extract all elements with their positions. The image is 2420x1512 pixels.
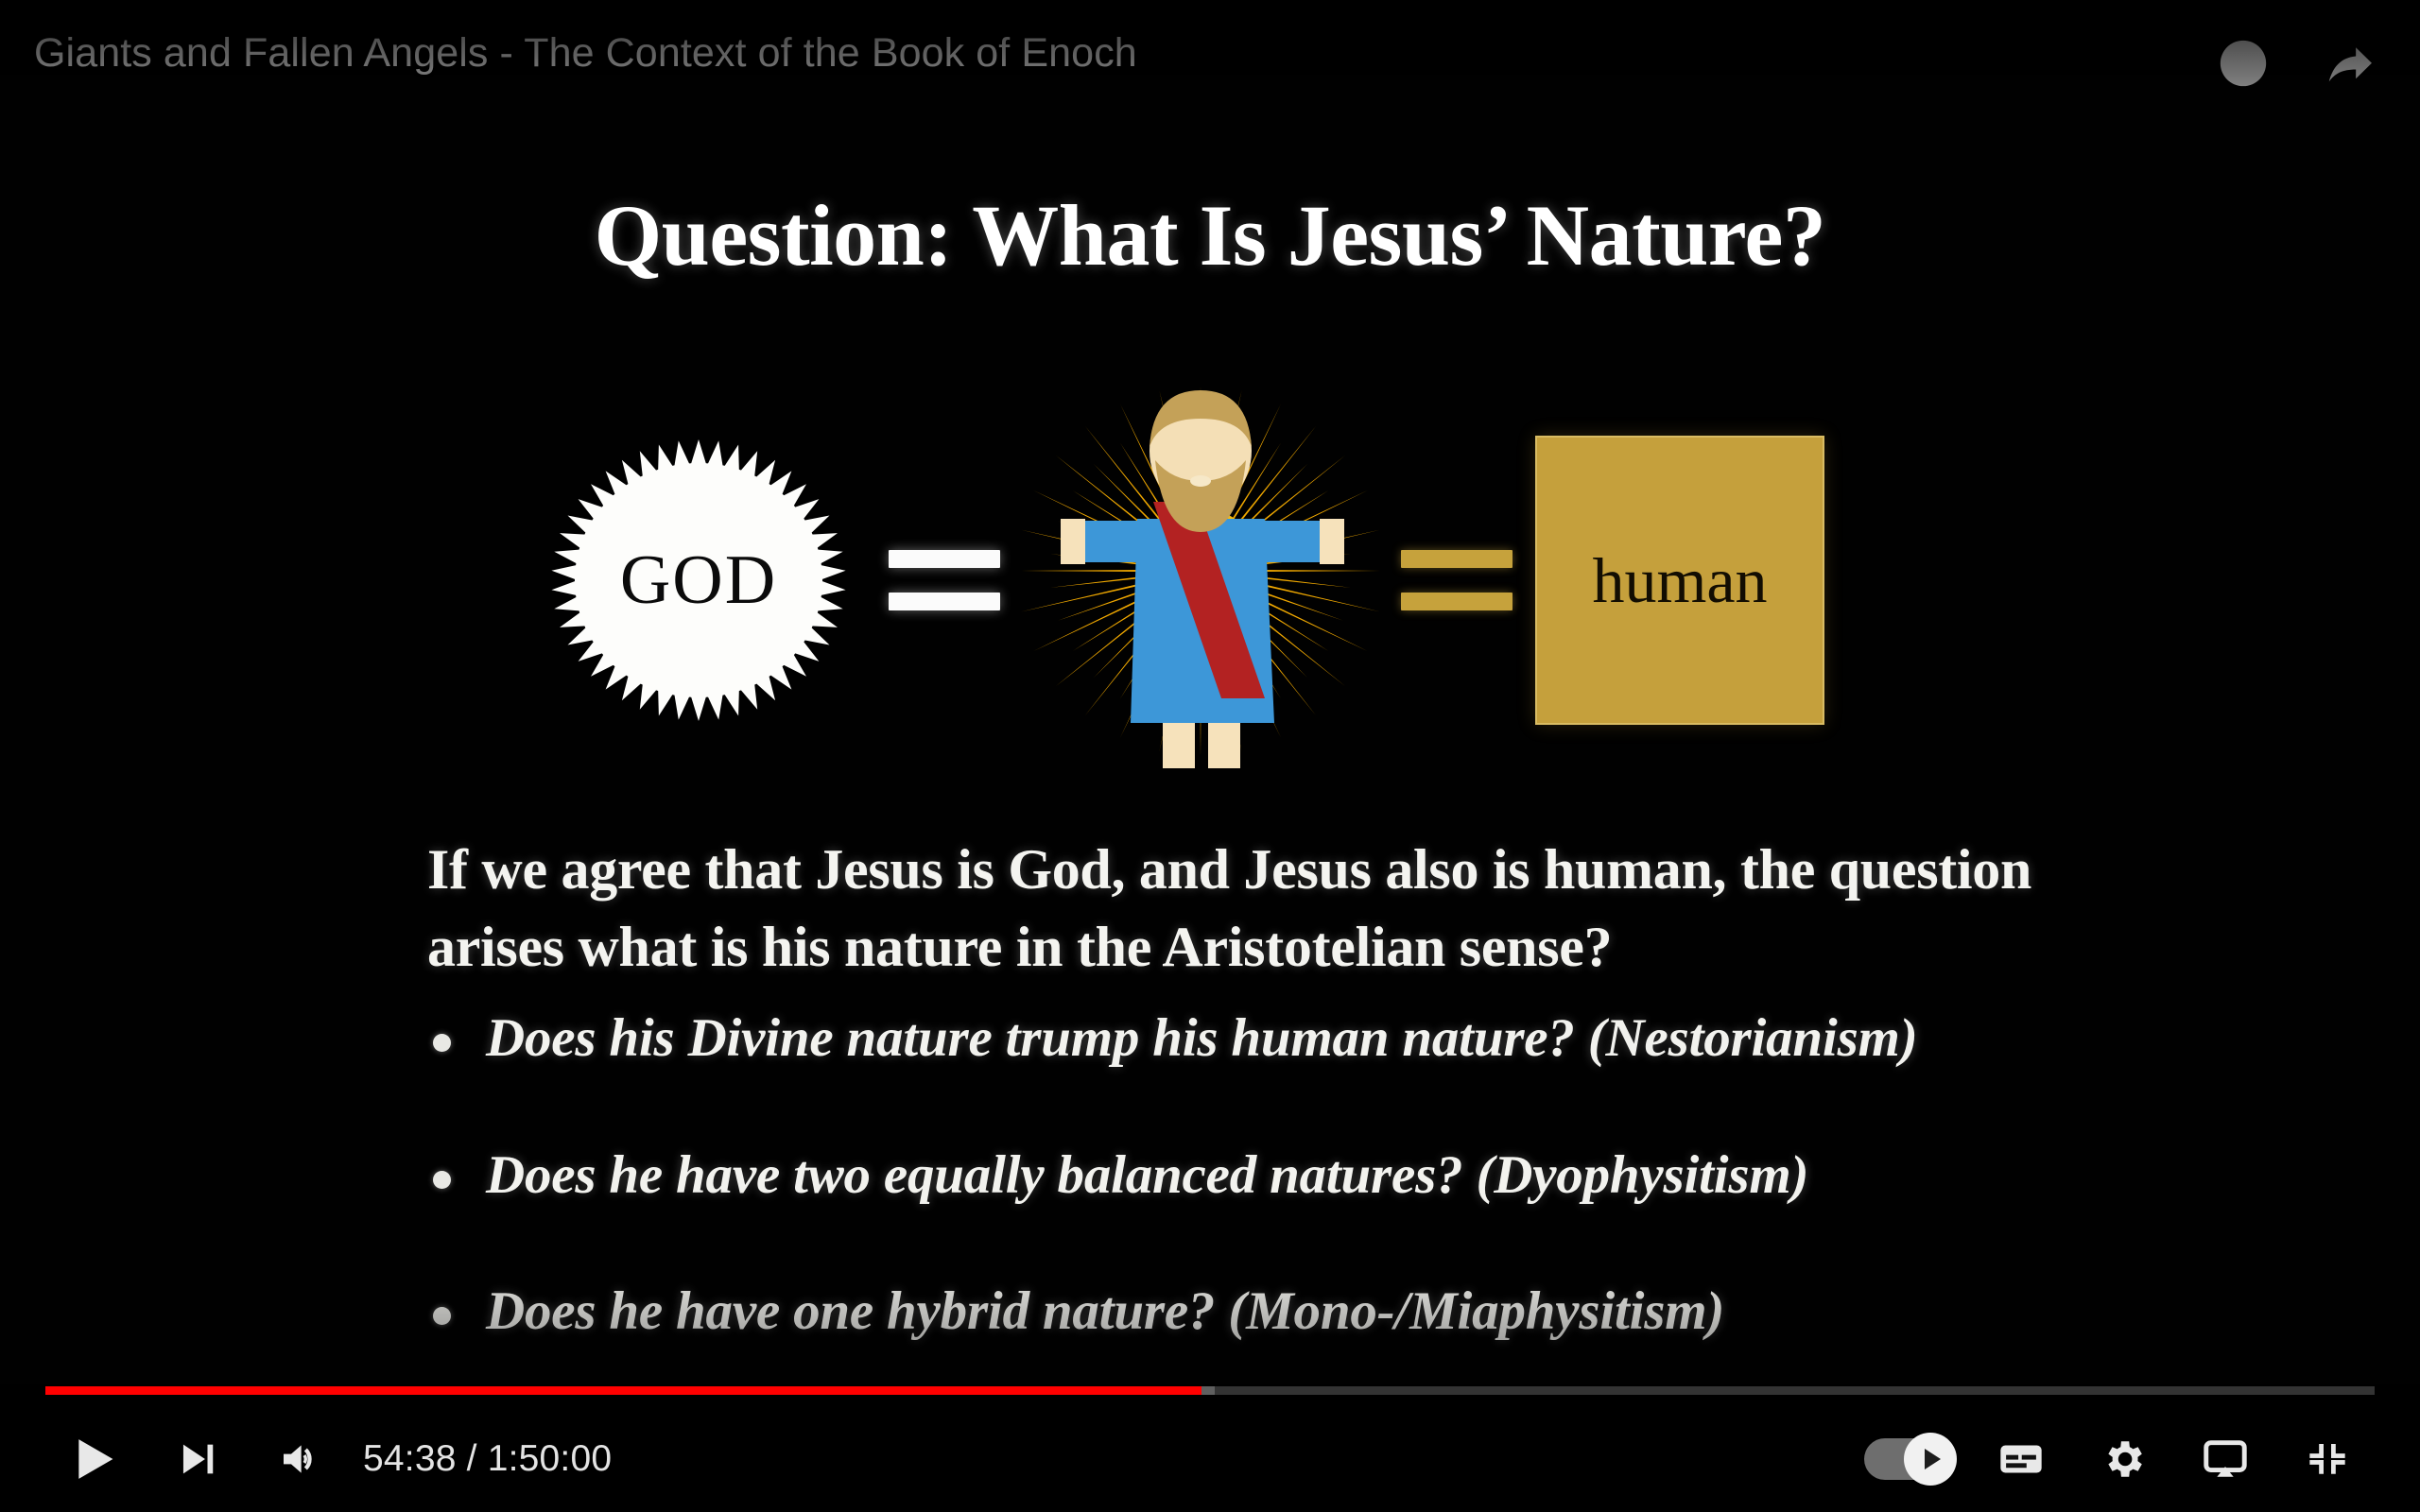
subtitles-icon xyxy=(1996,1435,2046,1484)
volume-icon xyxy=(276,1436,321,1482)
god-label: GOD xyxy=(620,541,777,621)
next-video-button[interactable] xyxy=(146,1408,248,1510)
equals-bar-bottom xyxy=(1401,593,1512,610)
progress-track[interactable] xyxy=(45,1386,2375,1395)
bullet-text: Does he have one hybrid nature? (Mono-/M… xyxy=(486,1281,1724,1341)
list-item: Does he have one hybrid nature? (Mono-/M… xyxy=(427,1282,2091,1342)
progress-played xyxy=(45,1386,1201,1395)
autoplay-toggle[interactable] xyxy=(1845,1408,1970,1510)
settings-button[interactable] xyxy=(2072,1408,2174,1510)
slide-paragraph: If we agree that Jesus is God, and Jesus… xyxy=(427,832,2053,986)
exit-fullscreen-icon xyxy=(2305,1436,2350,1482)
equals-sign-right xyxy=(1401,540,1514,621)
play-on-tv-button[interactable] xyxy=(2174,1408,2276,1510)
human-label: human xyxy=(1592,543,1767,618)
slide-title: Question: What Is Jesus’ Nature? xyxy=(0,185,2420,285)
exit-fullscreen-button[interactable] xyxy=(2276,1408,2378,1510)
gear-icon xyxy=(2100,1435,2147,1483)
share-icon[interactable] xyxy=(2320,32,2382,94)
youtube-video-player[interactable]: Question: What Is Jesus’ Nature? GOD xyxy=(0,0,2420,1512)
video-title[interactable]: Giants and Fallen Angels - The Context o… xyxy=(34,30,1137,77)
bullet-text: Does his Divine nature trump his human n… xyxy=(486,1008,1917,1068)
share-arrow-glyph xyxy=(2322,34,2380,93)
jesus-figure-illustration xyxy=(1021,377,1380,783)
cast-tv-icon xyxy=(2201,1435,2250,1484)
equals-bar-top xyxy=(889,550,1000,568)
progress-bar[interactable] xyxy=(45,1381,2375,1400)
watch-later-icon[interactable] xyxy=(2212,32,2274,94)
video-frame-slide: Question: What Is Jesus’ Nature? GOD xyxy=(0,0,2420,1512)
top-actions-group xyxy=(2212,32,2382,94)
human-box: human xyxy=(1535,436,1824,725)
autoplay-play-glyph xyxy=(1925,1449,1941,1469)
play-icon xyxy=(71,1435,118,1483)
autoplay-toggle-knob xyxy=(1904,1433,1957,1486)
list-item: Does he have two equally balanced nature… xyxy=(427,1146,2091,1206)
bullet-dot-icon xyxy=(433,1307,451,1325)
bullet-text: Does he have two equally balanced nature… xyxy=(486,1145,1808,1205)
equals-bar-bottom xyxy=(889,593,1000,610)
play-button[interactable] xyxy=(43,1408,146,1510)
player-controls-left: 54:38 / 1:50:00 xyxy=(0,1408,612,1510)
slide-bullet-list: Does his Divine nature trump his human n… xyxy=(427,1009,2091,1419)
subtitles-button[interactable] xyxy=(1970,1408,2072,1510)
list-item: Does his Divine nature trump his human n… xyxy=(427,1009,2091,1069)
equals-bar-top xyxy=(1401,550,1512,568)
bullet-dot-icon xyxy=(433,1171,451,1189)
god-starburst: GOD xyxy=(529,420,868,741)
player-controls-bar: 54:38 / 1:50:00 xyxy=(0,1406,2420,1512)
clock-glyph xyxy=(2216,36,2271,91)
equals-sign-left xyxy=(889,540,1002,621)
player-controls-right xyxy=(1845,1408,2420,1510)
autoplay-toggle-track xyxy=(1864,1438,1951,1480)
slide-equation-diagram: GOD xyxy=(529,382,1966,779)
bullet-dot-icon xyxy=(433,1034,451,1052)
time-display: 54:38 / 1:50:00 xyxy=(363,1438,612,1480)
next-icon xyxy=(175,1437,218,1481)
jesus-halo-icon xyxy=(1021,377,1380,783)
volume-button[interactable] xyxy=(248,1408,350,1510)
